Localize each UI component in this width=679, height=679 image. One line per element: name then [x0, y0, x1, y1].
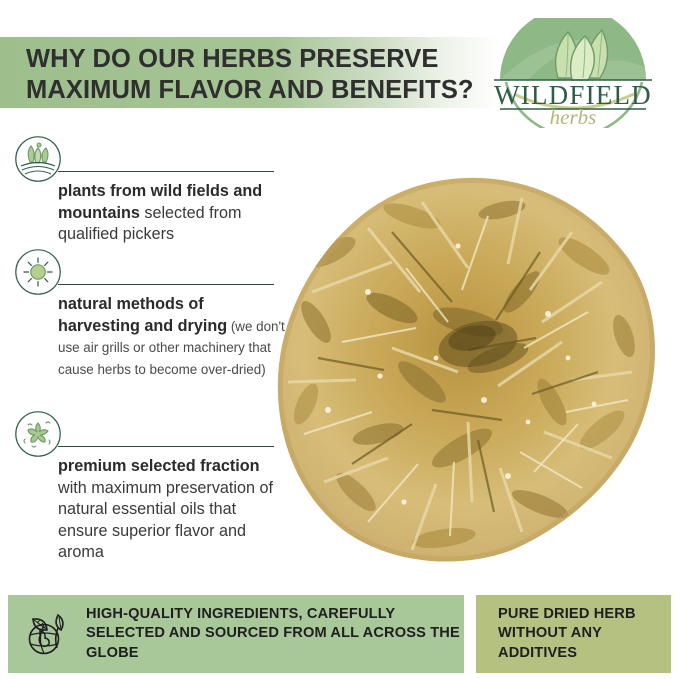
page-title: WHY DO OUR HERBS PRESERVE MAXIMUM FLAVOR… [26, 44, 476, 106]
infographic-page: WHY DO OUR HERBS PRESERVE MAXIMUM FLAVOR… [0, 0, 679, 679]
feature-divider [58, 284, 274, 285]
sun-icon [14, 248, 62, 296]
dried-herb-pile-image [272, 172, 662, 568]
feature-bold-text: premium selected fraction [58, 457, 260, 475]
globe-leaf-icon [20, 608, 72, 660]
feature-text-premium-fraction: premium selected fraction with maximum p… [58, 456, 290, 564]
feature-text-natural-drying: natural methods of harvesting and drying… [58, 294, 290, 380]
sprouts-field-icon [14, 135, 62, 183]
banner-text-globe-sourcing: HIGH-QUALITY INGREDIENTS, CAREFULLY SELE… [86, 605, 464, 663]
feature-regular-text: with maximum preservation of natural ess… [58, 479, 273, 562]
brand-logo: WILDFIELD herbs [484, 18, 662, 128]
herb-sparkle-icon [14, 410, 62, 458]
banner-text-no-additives: PURE DRIED HERB WITHOUT ANY ADDITIVES [498, 605, 671, 663]
logo-dome-icon [500, 18, 646, 80]
feature-divider [58, 446, 274, 447]
feature-bold-text: natural methods of harvesting and drying [58, 295, 227, 335]
banner-globe-sourcing: HIGH-QUALITY INGREDIENTS, CAREFULLY SELE… [8, 595, 464, 673]
banner-no-additives: PURE DRIED HERB WITHOUT ANY ADDITIVES [476, 595, 671, 673]
feature-text-wild-fields: plants from wild fields and mountains se… [58, 181, 290, 246]
feature-divider [58, 171, 274, 172]
logo-brand-sub: herbs [550, 105, 597, 128]
